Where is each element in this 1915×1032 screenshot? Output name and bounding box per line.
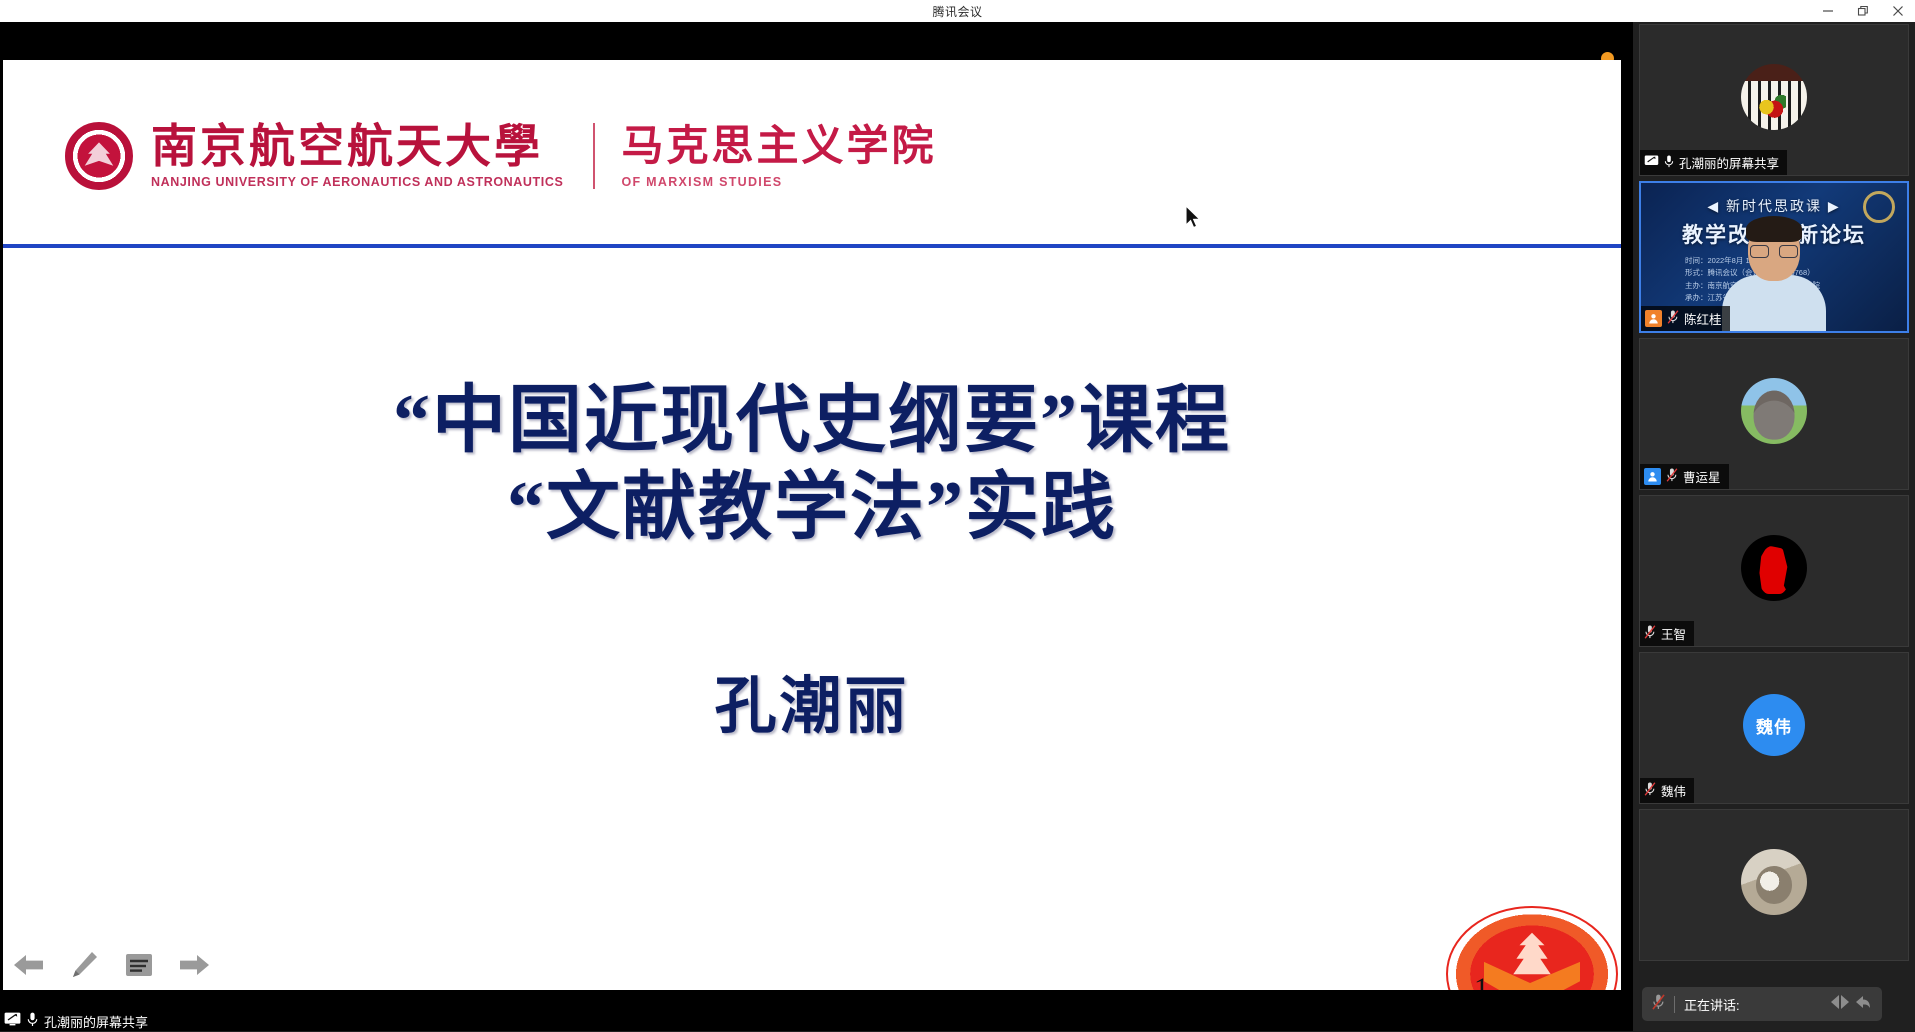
- participant-name-row: 孔潮丽的屏幕共享: [1640, 150, 1787, 175]
- window-title: 腾讯会议: [932, 3, 982, 20]
- screen-share-icon: [4, 1012, 21, 1031]
- arrow-left-icon: [14, 952, 44, 983]
- close-icon: [1892, 5, 1904, 17]
- school-name-en: OF MARXISM STUDIES: [621, 175, 936, 189]
- mic-muted-icon: [1652, 994, 1665, 1015]
- close-button[interactable]: [1880, 0, 1915, 22]
- speaking-label: 正在讲话:: [1684, 995, 1740, 1014]
- slide-title: “中国近现代史纲要”课程 “文献教学法”实践: [3, 378, 1621, 551]
- school-name-block: 马克思主义学院 OF MARXISM STUDIES: [621, 123, 936, 188]
- school-seal-icon: [1446, 906, 1618, 990]
- next-slide-button[interactable]: [177, 950, 211, 984]
- avatar: [1741, 849, 1807, 915]
- slide-title-line2: “文献教学法”实践: [3, 465, 1621, 552]
- participant-tile-caoyunxing[interactable]: 曹运星: [1639, 338, 1909, 490]
- annotate-button[interactable]: [67, 950, 101, 984]
- restore-button[interactable]: [1845, 0, 1880, 22]
- avatar: [1741, 378, 1807, 444]
- participant-name: 王智: [1661, 624, 1686, 643]
- notes-button[interactable]: [122, 950, 156, 984]
- slide-author: 孔潮丽: [3, 655, 1621, 745]
- slide-header: 南京航空航天大學 NANJING UNIVERSITY OF AERONAUTI…: [3, 60, 1621, 246]
- participant-name: 曹运星: [1683, 467, 1721, 486]
- mic-muted-icon: [1644, 625, 1656, 642]
- participant-webcam-person: [1722, 219, 1826, 331]
- logo-divider: [593, 123, 595, 189]
- arrow-back-icon[interactable]: [1854, 994, 1872, 1015]
- avatar: [1741, 535, 1807, 601]
- mic-icon: [27, 1012, 38, 1032]
- slide-canvas: 南京航空航天大學 NANJING UNIVERSITY OF AERONAUTI…: [3, 60, 1621, 990]
- university-logo-row: 南京航空航天大學 NANJING UNIVERSITY OF AERONAUTI…: [65, 122, 936, 190]
- previous-slide-button[interactable]: [12, 950, 46, 984]
- arrow-right-icon: [179, 952, 209, 983]
- participant-name-row: 曹运星: [1640, 464, 1729, 489]
- mic-muted-icon: [1666, 468, 1678, 485]
- avatar: 魏伟: [1743, 694, 1805, 756]
- participant-name: 孔潮丽的屏幕共享: [1679, 153, 1779, 172]
- participant-name-row: 陈红桂: [1641, 306, 1730, 331]
- avatar: [1741, 64, 1807, 130]
- minimize-icon: [1822, 5, 1834, 17]
- participant-tile-weiwei[interactable]: 魏伟 魏伟: [1639, 652, 1909, 804]
- share-status-label: 孔潮丽的屏幕共享: [44, 1012, 148, 1031]
- restore-icon: [1857, 5, 1869, 17]
- glasses-icon: [1750, 245, 1798, 258]
- virtual-bg-line1: ◀ 新时代思政课 ▶: [1641, 196, 1907, 216]
- participant-name: 陈红桂: [1684, 309, 1722, 328]
- pencil-icon: [70, 951, 98, 984]
- participant-name: 魏伟: [1661, 781, 1686, 800]
- participant-tile-screenshare[interactable]: 孔潮丽的屏幕共享: [1639, 24, 1909, 176]
- avatar-badge-icon: [1644, 468, 1661, 485]
- person-body: [1722, 275, 1826, 331]
- window-controls: [1810, 0, 1915, 22]
- speaking-bar-actions[interactable]: [1830, 994, 1872, 1015]
- school-name-cn: 马克思主义学院: [621, 123, 936, 169]
- participants-sidebar[interactable]: 孔潮丽的屏幕共享 ◀ 新时代思政课 ▶ 教学改革创新论坛 时间：2022年8月 …: [1633, 22, 1915, 1031]
- speaking-status-bar[interactable]: 正在讲话:: [1642, 987, 1882, 1021]
- share-status-bar: 孔潮丽的屏幕共享: [0, 1012, 1633, 1031]
- participant-tile-partial[interactable]: [1639, 809, 1909, 961]
- participant-tile-wangzhi[interactable]: 王智: [1639, 495, 1909, 647]
- shared-screen-area[interactable]: 南京航空航天大學 NANJING UNIVERSITY OF AERONAUTI…: [0, 22, 1633, 1031]
- mic-on-icon: [1664, 155, 1674, 171]
- presentation-toolbar[interactable]: [12, 950, 211, 984]
- university-name-en: NANJING UNIVERSITY OF AERONAUTICS AND AS…: [151, 175, 563, 189]
- slide-header-rule: [3, 244, 1621, 248]
- window-titlebar: 腾讯会议: [0, 0, 1915, 22]
- slide-page-number: 1: [1474, 972, 1489, 990]
- avatar-badge-icon: [1645, 310, 1662, 327]
- slide-title-line1: “中国近现代史纲要”课程: [3, 378, 1621, 465]
- participant-name-row: 魏伟: [1640, 778, 1694, 803]
- university-seal-icon: [65, 122, 133, 190]
- mic-muted-icon: [1644, 782, 1656, 799]
- person-hair: [1746, 216, 1802, 242]
- university-name-block: 南京航空航天大學 NANJING UNIVERSITY OF AERONAUTI…: [151, 123, 563, 189]
- speaking-bar-divider: [1674, 996, 1675, 1013]
- minimize-button[interactable]: [1810, 0, 1845, 22]
- notes-icon: [124, 952, 154, 983]
- share-top-strip: [0, 22, 1633, 62]
- screen-share-icon: [1644, 155, 1659, 170]
- participant-tile-chenhonggui[interactable]: ◀ 新时代思政课 ▶ 教学改革创新论坛 时间：2022年8月 19:00-21:…: [1639, 181, 1909, 333]
- university-name-cn: 南京航空航天大學: [151, 123, 563, 171]
- chevrons-icon[interactable]: [1830, 994, 1850, 1015]
- mic-muted-icon: [1667, 310, 1679, 327]
- participant-name-row: 王智: [1640, 621, 1694, 646]
